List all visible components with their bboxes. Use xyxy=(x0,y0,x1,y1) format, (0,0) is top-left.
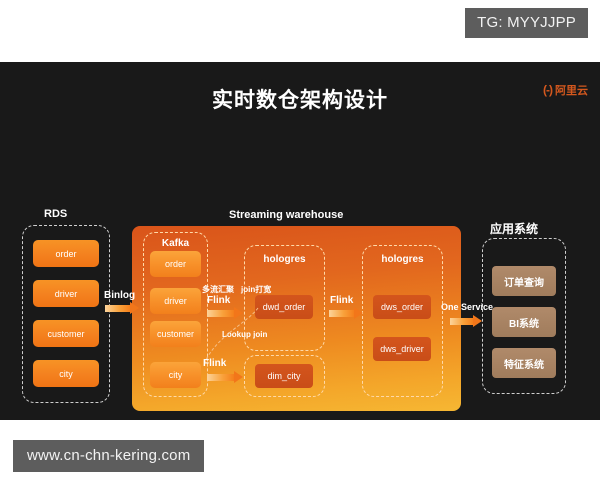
app-node-feature[interactable]: 特征系统 xyxy=(492,348,556,378)
arrow-flink-dws xyxy=(329,310,355,317)
flow-label-join-widen: join打宽 xyxy=(241,284,271,295)
arrow-one-service xyxy=(450,318,474,325)
kafka-label: Kafka xyxy=(143,238,208,249)
rds-node-customer[interactable]: customer xyxy=(33,320,99,347)
cloud-logo-text: 阿里云 xyxy=(555,82,588,98)
arrow-binlog xyxy=(105,305,131,312)
lookup-join-curve xyxy=(186,306,276,378)
rds-node-driver[interactable]: driver xyxy=(33,280,99,307)
flow-label-binlog: Binlog xyxy=(104,290,135,301)
caption-streaming-warehouse: Streaming warehouse xyxy=(229,209,343,221)
slide-title: 实时数仓架构设计 xyxy=(0,84,600,114)
arrow-flink-dim xyxy=(207,374,235,381)
dws-node-driver[interactable]: dws_driver xyxy=(373,337,431,361)
caption-app-systems: 应用系统 xyxy=(490,220,538,237)
dws-node-order[interactable]: dws_order xyxy=(373,295,431,319)
flow-label-flink-dim: Flink xyxy=(203,358,226,369)
hologres-dws-label: hologres xyxy=(362,254,443,265)
top-watermark-badge: TG: MYYJJPP xyxy=(465,8,588,38)
cloud-logo-mark: (-) xyxy=(543,83,552,97)
app-node-order-query[interactable]: 订单查询 xyxy=(492,266,556,296)
rds-node-city[interactable]: city xyxy=(33,360,99,387)
bottom-watermark-badge: www.cn-chn-kering.com xyxy=(13,440,204,472)
app-node-bi[interactable]: BI系统 xyxy=(492,307,556,337)
flow-label-one-service: One Service xyxy=(441,302,493,312)
hologres-dws-container xyxy=(362,245,443,397)
caption-rds: RDS xyxy=(44,208,67,220)
kafka-node-order[interactable]: order xyxy=(150,251,201,277)
flow-label-flink-join: Flink xyxy=(207,295,230,306)
flow-label-multi-stream: 多流汇聚 xyxy=(202,284,234,295)
hologres-dwd-label: hologres xyxy=(244,254,325,265)
alibaba-cloud-logo: (-) 阿里云 xyxy=(543,82,588,98)
architecture-slide: 实时数仓架构设计 (-) 阿里云 RDS Streaming warehouse… xyxy=(0,62,600,420)
rds-node-order[interactable]: order xyxy=(33,240,99,267)
flow-label-flink-dws: Flink xyxy=(330,295,353,306)
